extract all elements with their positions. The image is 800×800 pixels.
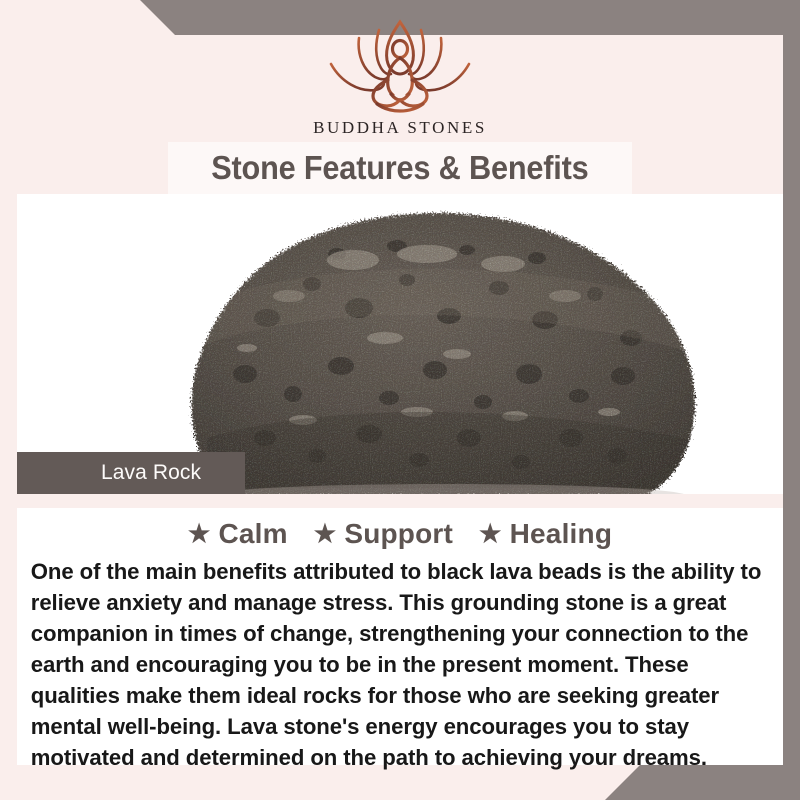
stone-photo-panel [17, 194, 783, 494]
feature-keywords-row: ★ Calm ★ Support ★ Healing [17, 508, 783, 550]
star-icon: ★ [314, 519, 337, 549]
feature-label-support: Support [344, 518, 453, 549]
title-banner: Stone Features & Benefits [168, 142, 632, 194]
benefits-paragraph: One of the main benefits attributed to b… [17, 550, 772, 773]
brand-name: BUDDHA STONES [313, 118, 487, 138]
photo-caption-label: Lava Rock [101, 461, 201, 485]
star-icon: ★ [479, 519, 502, 549]
benefits-text-panel: ★ Calm ★ Support ★ Healing One of the ma… [17, 508, 783, 765]
photo-caption-band: Lava Rock [17, 452, 245, 494]
star-icon: ★ [188, 519, 211, 549]
photo-text-separator [17, 494, 783, 508]
brand-logo-block: BUDDHA STONES [0, 14, 800, 138]
page-title: Stone Features & Benefits [211, 149, 588, 187]
lotus-meditation-icon [315, 14, 485, 114]
lava-rock-photo [97, 194, 737, 494]
feature-label-calm: Calm [218, 518, 287, 549]
poster-root: BUDDHA STONES Stone Features & Benefits [0, 0, 800, 800]
feature-label-healing: Healing [510, 518, 613, 549]
